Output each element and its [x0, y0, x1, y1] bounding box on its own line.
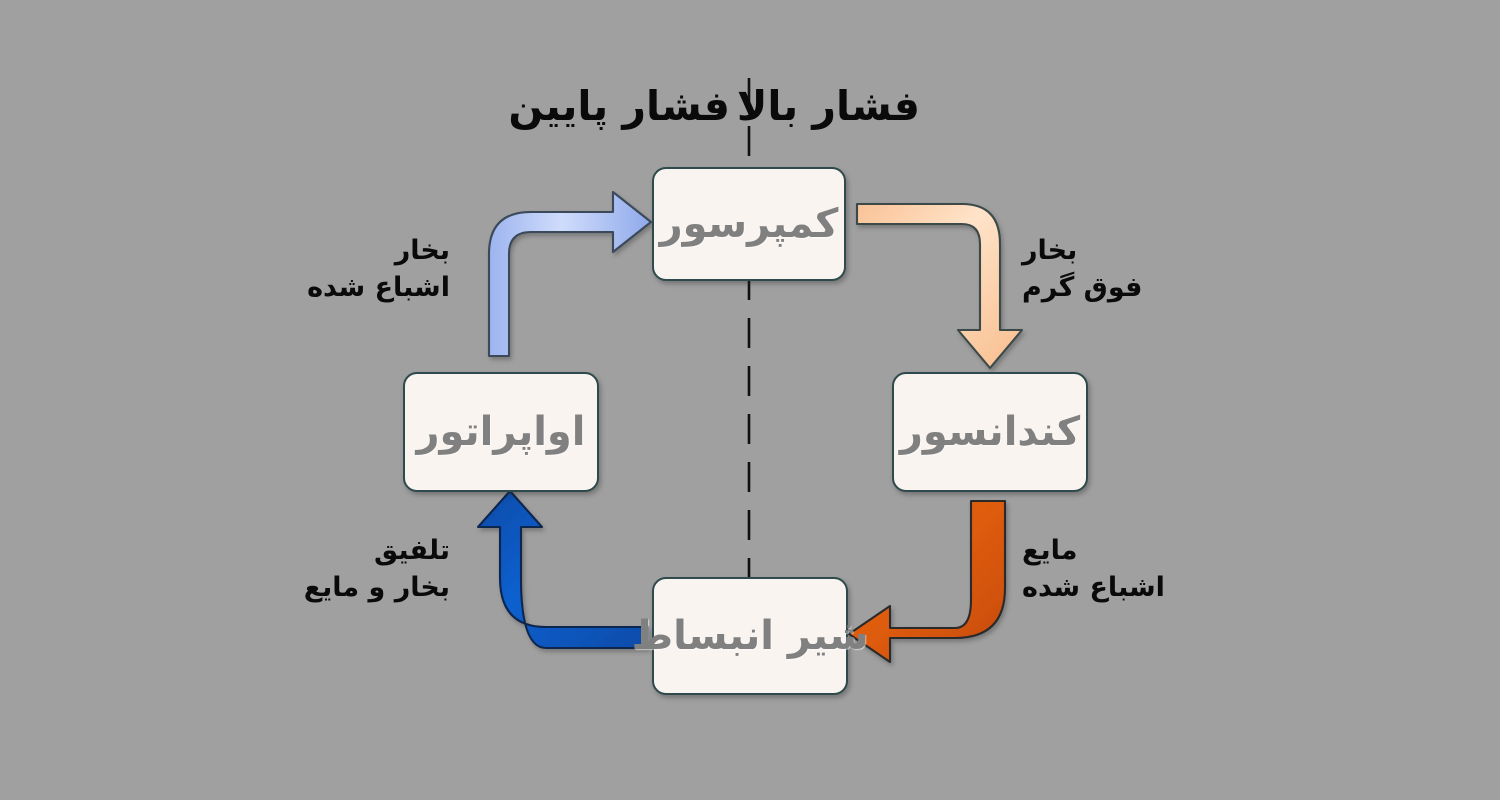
arrow-saturated-vapor: [489, 192, 651, 356]
node-compressor-label: کمپرسور: [660, 201, 839, 247]
flow-label-saturated-liquid-line2: اشباع شده: [1022, 569, 1165, 606]
low-pressure-label: فشار پایین: [508, 85, 730, 128]
flow-label-saturated-vapor-line1: بخار: [307, 232, 450, 269]
node-expansion-valve-label: شیر انبساط: [632, 613, 869, 659]
flow-label-vapor-liquid-mixture: تلفیق بخار و مایع: [304, 532, 450, 607]
flow-label-saturated-vapor: بخار اشباع شده: [307, 232, 450, 307]
arrow-saturated-liquid: [849, 501, 1005, 662]
arrow-superheated-vapor: [857, 204, 1022, 368]
node-expansion-valve[interactable]: شیر انبساط: [652, 577, 848, 695]
flow-label-superheated-vapor: بخار فوق گرم: [1022, 232, 1142, 307]
node-condenser-label: کندانسور: [900, 409, 1080, 455]
flow-label-saturated-liquid-line1: مایع: [1022, 532, 1165, 569]
high-pressure-label: فشار بالا: [737, 85, 920, 128]
node-condenser[interactable]: کندانسور: [892, 372, 1088, 492]
node-evaporator-label: اواپراتور: [416, 409, 585, 455]
refrigeration-cycle-diagram: فشار بالا فشار پایین کمپرسور کندانسور شی…: [0, 0, 1500, 800]
node-evaporator[interactable]: اواپراتور: [403, 372, 599, 492]
flow-label-vapor-liquid-mixture-line1: تلفیق: [304, 532, 450, 569]
flow-label-saturated-liquid: مایع اشباع شده: [1022, 532, 1165, 607]
flow-label-saturated-vapor-line2: اشباع شده: [307, 269, 450, 306]
arrow-vapor-liquid-mixture: [478, 491, 648, 648]
flow-label-vapor-liquid-mixture-line2: بخار و مایع: [304, 569, 450, 606]
node-compressor[interactable]: کمپرسور: [652, 167, 846, 281]
flow-label-superheated-vapor-line2: فوق گرم: [1022, 269, 1142, 306]
flow-label-superheated-vapor-line1: بخار: [1022, 232, 1142, 269]
